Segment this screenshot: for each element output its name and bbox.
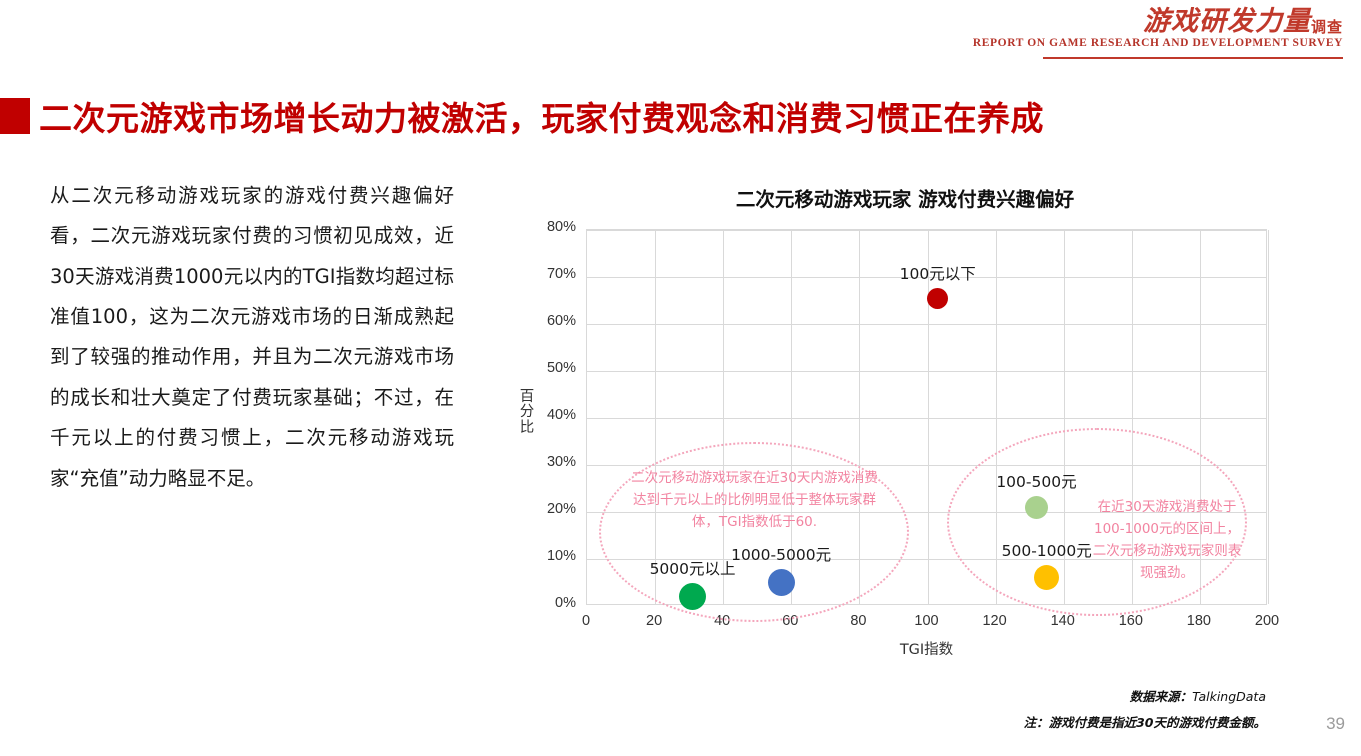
data-point-label-2: 500-1000元	[967, 539, 1127, 561]
title-bullet-square	[0, 98, 30, 134]
data-point-0[interactable]	[927, 288, 948, 309]
chart-title: 二次元移动游戏玩家 游戏付费兴趣偏好	[655, 183, 1155, 212]
footnote: 注：游戏付费是指近30天的游戏付费金额。	[1024, 712, 1266, 731]
slide-page: 游戏研发力量调查 REPORT ON GAME RESEARCH AND DEV…	[0, 0, 1361, 756]
data-point-label-0: 100元以下	[858, 262, 1018, 284]
x-tick-label: 0	[556, 613, 616, 629]
x-tick-label: 200	[1237, 613, 1297, 629]
y-tick-label: 70%	[516, 266, 576, 282]
y-tick-label: 80%	[516, 219, 576, 235]
data-point-4[interactable]	[679, 583, 706, 610]
page-title-text: 二次元游戏市场增长动力被激活，玩家付费观念和消费习惯正在养成	[39, 92, 1044, 140]
brand-title-en: REPORT ON GAME RESEARCH AND DEVELOPMENT …	[973, 37, 1343, 49]
chart-plot-area: 二次元移动游戏玩家在近30天内游戏消费达到千元以上的比例明显低于整体玩家群体，T…	[586, 229, 1267, 605]
data-point-label-1: 100-500元	[956, 470, 1116, 492]
body-paragraph: 从二次元移动游戏玩家的游戏付费兴趣偏好看，二次元游戏玩家付费的习惯初见成效，近3…	[50, 176, 454, 499]
data-source-label: 数据来源：	[1130, 689, 1193, 704]
y-tick-label: 40%	[516, 407, 576, 423]
grid-line-vertical	[1268, 230, 1269, 604]
grid-line-vertical	[928, 230, 929, 604]
data-point-1[interactable]	[1025, 496, 1048, 519]
brand-title-cn-tail: 调查	[1311, 20, 1343, 34]
data-source: 数据来源：TalkingData	[1130, 686, 1266, 705]
brand-title-cn-main: 游戏研发力量	[1143, 6, 1311, 37]
brand-divider	[1043, 57, 1343, 59]
grid-line-horizontal	[587, 418, 1266, 419]
chart-x-axis-label: TGI指数	[586, 638, 1267, 659]
page-title: 二次元游戏市场增长动力被激活，玩家付费观念和消费习惯正在养成	[0, 92, 1044, 140]
y-tick-label: 10%	[516, 548, 576, 564]
page-number: 39	[1326, 714, 1345, 734]
grid-line-horizontal	[587, 324, 1266, 325]
brand-logo: 游戏研发力量调查 REPORT ON GAME RESEARCH AND DEV…	[973, 8, 1343, 49]
data-point-label-4: 5000元以上	[613, 557, 773, 579]
brand-title-cn: 游戏研发力量调查	[973, 8, 1343, 36]
x-tick-label: 80	[828, 613, 888, 629]
grid-line-horizontal	[587, 230, 1266, 231]
data-source-value: TalkingData	[1192, 689, 1266, 704]
y-tick-label: 0%	[516, 595, 576, 611]
x-tick-label: 20	[624, 613, 684, 629]
y-tick-label: 30%	[516, 454, 576, 470]
chart-annotation-left-group: 二次元移动游戏玩家在近30天内游戏消费达到千元以上的比例明显低于整体玩家群体，T…	[627, 468, 882, 534]
grid-line-horizontal	[587, 371, 1266, 372]
y-tick-label: 60%	[516, 313, 576, 329]
x-tick-label: 120	[965, 613, 1025, 629]
x-tick-label: 100	[897, 613, 957, 629]
x-tick-label: 180	[1169, 613, 1229, 629]
y-tick-label: 50%	[516, 360, 576, 376]
y-tick-label: 20%	[516, 501, 576, 517]
